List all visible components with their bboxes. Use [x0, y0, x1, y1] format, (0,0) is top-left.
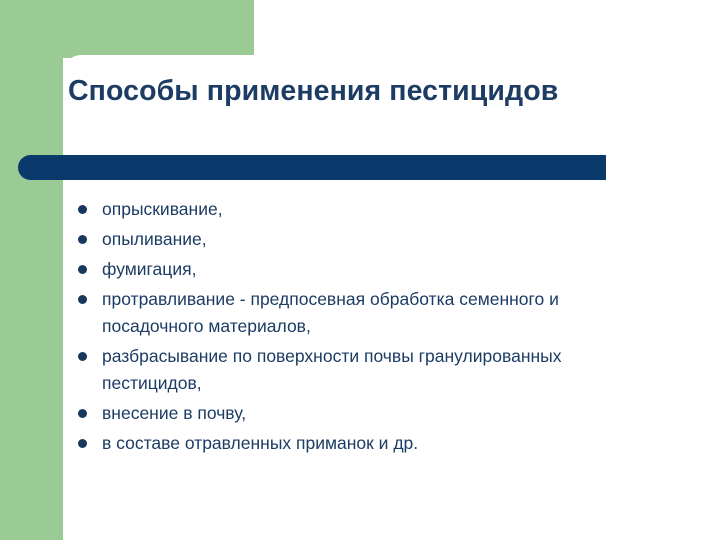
bullet-disc-icon	[78, 352, 87, 361]
list-item-label: внесение в почву,	[102, 400, 632, 427]
list-item: в составе отравленных приманок и др.	[72, 430, 632, 457]
page-title: Способы применения пестицидов	[68, 76, 668, 107]
bullet-disc-icon	[78, 265, 87, 274]
list-item: опыливание,	[72, 226, 632, 253]
list-item-label: фумигация,	[102, 256, 632, 283]
bullet-disc-icon	[78, 439, 87, 448]
pesticide-application-methods-list: опрыскивание, опыливание, фумигация, про…	[72, 196, 632, 460]
bullet-disc-icon	[78, 205, 87, 214]
green-top-block-decoration	[0, 0, 254, 58]
bullet-disc-icon	[78, 295, 87, 304]
list-item-label: опыливание,	[102, 226, 632, 253]
list-item-label: протравливание - предпосевная обработка …	[102, 286, 632, 340]
list-item-label: разбрасывание по поверхности почвы грану…	[102, 343, 632, 397]
bullet-disc-icon	[78, 409, 87, 418]
list-item: фумигация,	[72, 256, 632, 283]
list-item: опрыскивание,	[72, 196, 632, 223]
list-item-label: опрыскивание,	[102, 196, 632, 223]
list-item-label: в составе отравленных приманок и др.	[102, 430, 632, 457]
list-item: разбрасывание по поверхности почвы грану…	[72, 343, 632, 397]
list-item: внесение в почву,	[72, 400, 632, 427]
list-item: протравливание - предпосевная обработка …	[72, 286, 632, 340]
green-sidebar-decoration	[0, 0, 63, 540]
slide-canvas: Способы применения пестицидов опрыскиван…	[0, 0, 720, 540]
title-divider-bar	[18, 155, 606, 180]
bullet-disc-icon	[78, 235, 87, 244]
